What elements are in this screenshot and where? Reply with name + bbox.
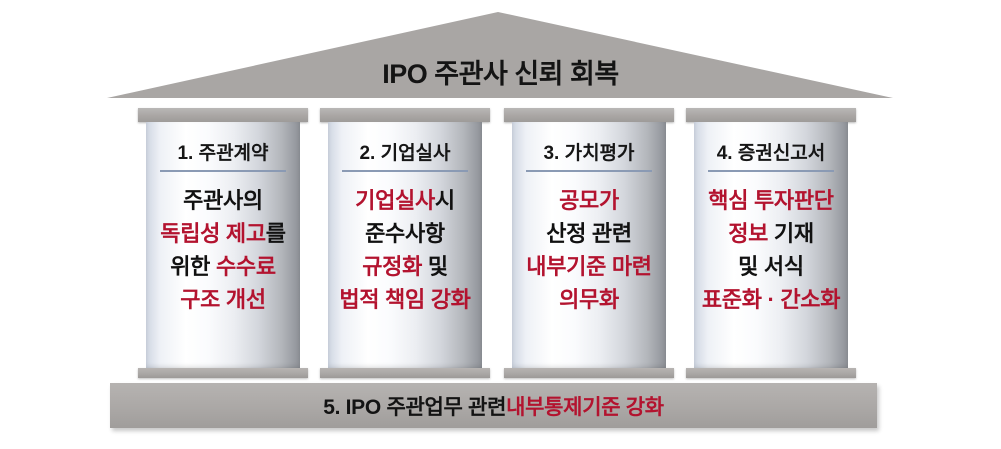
page-title: IPO 주관사 신뢰 회복 (0, 52, 1001, 91)
pillar-body-line: 정보 기재 (694, 217, 848, 250)
pillar-2-header: 2. 기업실사 (328, 138, 482, 165)
pillar-body-line: 법적 책임 강화 (328, 283, 482, 316)
pillar-body-line: 산정 관련 (512, 217, 666, 250)
plain-text: 주관사의 (183, 188, 263, 213)
pillar-2-capital (320, 108, 490, 122)
pillar-2-shaft: 2. 기업실사 기업실사시준수사항규정화 및법적 책임 강화 (328, 122, 482, 368)
pillar-2-body: 기업실사시준수사항규정화 및법적 책임 강화 (328, 184, 482, 316)
pillar-body-line: 준수사항 (328, 217, 482, 250)
highlight-text: 내부통제기준 강화 (506, 391, 664, 421)
highlight-text: 정보 (728, 221, 768, 246)
highlight-text: 법적 책임 강화 (339, 287, 470, 312)
pillar-body-line: 공모가 (512, 184, 666, 217)
pillar-body-line: 의무화 (512, 283, 666, 316)
pillar-1: 1. 주관계약 주관사의독립성 제고를위한 수수료구조 개선 (138, 108, 308, 378)
pillar-1-header: 1. 주관계약 (146, 138, 300, 165)
highlight-text: 표준화 · 간소화 (702, 287, 840, 312)
base-platform: 5. IPO 주관업무 관련 내부통제기준 강화 (110, 383, 877, 428)
highlight-text: 기업실사 (355, 188, 435, 213)
pillar-2-base (320, 368, 490, 378)
pillar-4-capital (686, 108, 856, 122)
plain-text: 5. IPO 주관업무 관련 (323, 391, 506, 421)
pillar-body-line: 규정화 및 (328, 250, 482, 283)
pillar-body-line: 구조 개선 (146, 283, 300, 316)
plain-text: 준수사항 (365, 221, 445, 246)
pillar-body-line: 위한 수수료 (146, 250, 300, 283)
plain-text: 산정 관련 (546, 221, 632, 246)
pillar-3-base (504, 368, 674, 378)
highlight-text: 규정화 (362, 254, 422, 279)
pillar-body-line: 내부기준 마련 (512, 250, 666, 283)
plain-text: 를 (266, 221, 286, 246)
highlight-text: 내부기준 마련 (526, 254, 651, 279)
plain-text: 및 서식 (738, 254, 804, 279)
pillar-3: 3. 가치평가 공모가산정 관련내부기준 마련의무화 (504, 108, 674, 378)
ipo-trust-recovery-infographic: IPO 주관사 신뢰 회복 1. 주관계약 주관사의독립성 제고를위한 수수료구… (0, 0, 1001, 449)
highlight-text: 핵심 투자판단 (708, 188, 833, 213)
pillar-4-divider (708, 170, 834, 172)
pillar-4-shaft: 4. 증권신고서 핵심 투자판단정보 기재및 서식표준화 · 간소화 (694, 122, 848, 368)
pillar-4-header: 4. 증권신고서 (694, 138, 848, 165)
pillar-1-base (138, 368, 308, 378)
pillar-3-shaft: 3. 가치평가 공모가산정 관련내부기준 마련의무화 (512, 122, 666, 368)
pillar-body-line: 기업실사시 (328, 184, 482, 217)
highlight-text: 공모가 (559, 188, 619, 213)
plain-text: 시 (435, 188, 455, 213)
pillar-1-body: 주관사의독립성 제고를위한 수수료구조 개선 (146, 184, 300, 316)
pillar-2-divider (342, 170, 468, 172)
pillar-3-header: 3. 가치평가 (512, 138, 666, 165)
pillar-4-body: 핵심 투자판단정보 기재및 서식표준화 · 간소화 (694, 184, 848, 316)
pillar-1-shaft: 1. 주관계약 주관사의독립성 제고를위한 수수료구조 개선 (146, 122, 300, 368)
pillar-body-line: 표준화 · 간소화 (694, 283, 848, 316)
highlight-text: 구조 개선 (180, 287, 266, 312)
pillar-3-body: 공모가산정 관련내부기준 마련의무화 (512, 184, 666, 316)
pillar-body-line: 주관사의 (146, 184, 300, 217)
plain-text: 기재 (768, 221, 814, 246)
pillar-3-capital (504, 108, 674, 122)
pillar-body-line: 핵심 투자판단 (694, 184, 848, 217)
highlight-text: 수수료 (216, 254, 276, 279)
base-label: 5. IPO 주관업무 관련 내부통제기준 강화 (110, 383, 877, 428)
pillar-4: 4. 증권신고서 핵심 투자판단정보 기재및 서식표준화 · 간소화 (686, 108, 856, 378)
pillar-3-divider (526, 170, 652, 172)
pillar-4-base (686, 368, 856, 378)
pillar-body-line: 독립성 제고를 (146, 217, 300, 250)
highlight-text: 독립성 제고 (160, 221, 266, 246)
pillar-1-divider (160, 170, 286, 172)
pillar-1-capital (138, 108, 308, 122)
pediment: IPO 주관사 신뢰 회복 (0, 0, 1001, 102)
pillar-2: 2. 기업실사 기업실사시준수사항규정화 및법적 책임 강화 (320, 108, 490, 378)
plain-text: 위한 (170, 254, 216, 279)
plain-text: 및 (422, 254, 448, 279)
highlight-text: 의무화 (559, 287, 619, 312)
pillar-body-line: 및 서식 (694, 250, 848, 283)
